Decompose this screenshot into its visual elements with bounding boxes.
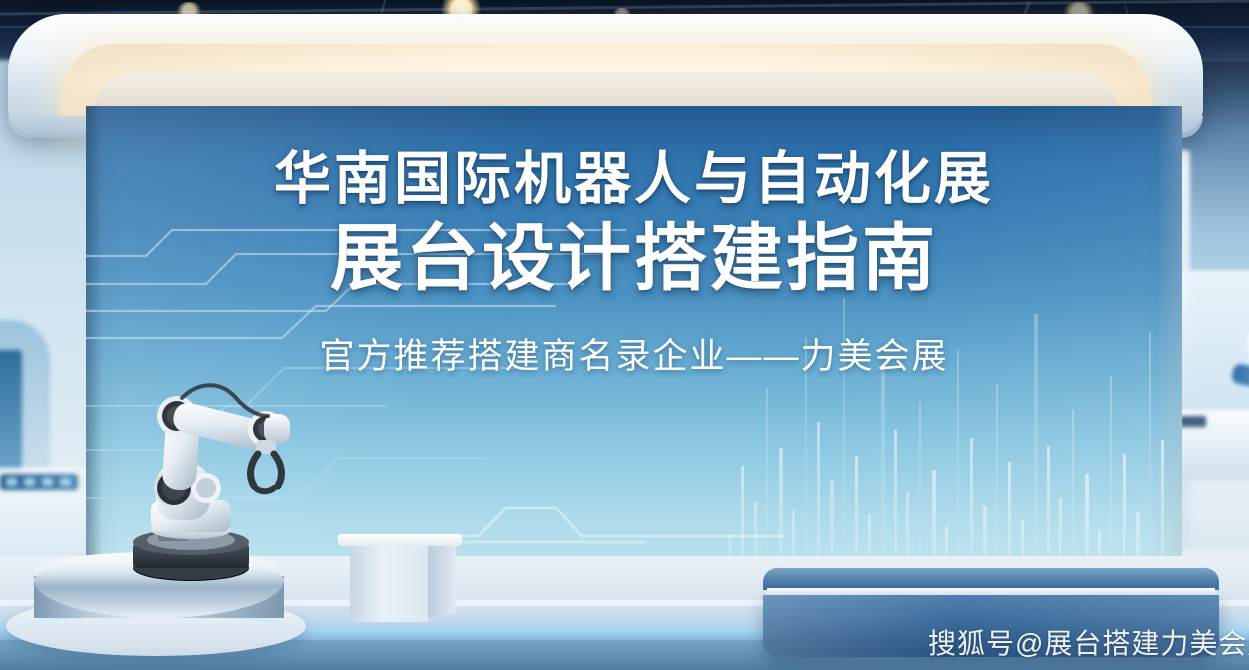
podium-glow-ring (14, 612, 298, 652)
plinth-top-surface (338, 534, 462, 546)
poster-text-block: 华南国际机器人与自动化展 展台设计搭建指南 官方推荐搭建商名录企业——力美会展 (86, 150, 1182, 379)
watermark-text: 搜狐号@展台搭建力美会展 (928, 622, 1249, 662)
background-screen-icon (0, 350, 22, 470)
robot-arm-icon (96, 372, 306, 582)
poster-title-line-1: 华南国际机器人与自动化展 (86, 150, 1182, 208)
display-plinth (350, 534, 450, 626)
poster-canvas: 华南国际机器人与自动化展 展台设计搭建指南 官方推荐搭建商名录企业——力美会展 (0, 0, 1249, 670)
plinth-front-face (350, 544, 428, 622)
plinth-side-face (426, 541, 456, 618)
poster-subtitle: 官方推荐搭建商名录企业——力美会展 (86, 328, 1182, 379)
poster-title-line-2: 展台设计搭建指南 (86, 217, 1182, 300)
counter-top-surface (763, 568, 1219, 590)
